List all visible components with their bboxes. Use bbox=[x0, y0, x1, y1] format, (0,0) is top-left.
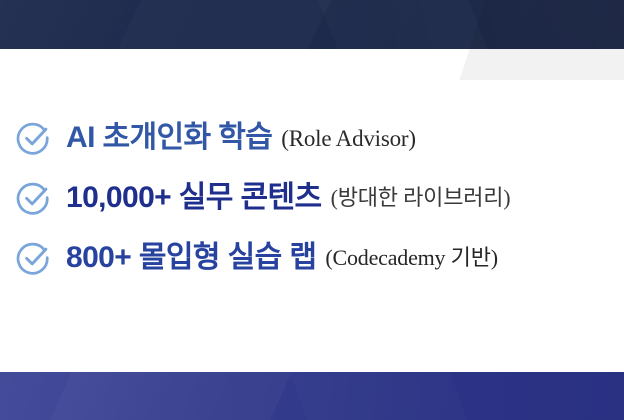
slide-canvas: AI 초개인화 학습 (Role Advisor) 10,000+ 실무 콘텐츠… bbox=[0, 0, 624, 420]
top-decorative-band bbox=[0, 0, 624, 49]
check-circle-icon bbox=[14, 118, 54, 158]
top-band-facet-left bbox=[105, 0, 342, 76]
feature-headline: AI 초개인화 학습 bbox=[66, 123, 272, 153]
check-circle-icon bbox=[14, 178, 54, 218]
feature-headline: 10,000+ 실무 콘텐츠 bbox=[66, 183, 322, 213]
feature-headline: 800+ 몰입형 실습 랩 bbox=[66, 243, 316, 273]
bottom-band-facet-left bbox=[38, 348, 303, 420]
feature-list: AI 초개인화 학습 (Role Advisor) 10,000+ 실무 콘텐츠… bbox=[0, 118, 624, 278]
check-circle-icon bbox=[14, 238, 54, 278]
bottom-decorative-band bbox=[0, 372, 624, 420]
feature-note: (방대한 라이브러리) bbox=[331, 187, 511, 209]
top-band-facet-right bbox=[459, 0, 624, 80]
feature-note: (Role Advisor) bbox=[281, 127, 416, 150]
feature-item-ai-personalization: AI 초개인화 학습 (Role Advisor) bbox=[0, 118, 624, 158]
bottom-band-facet-middle bbox=[283, 354, 476, 420]
feature-note: (Codecademy 기반) bbox=[325, 247, 497, 269]
feature-item-content-library: 10,000+ 실무 콘텐츠 (방대한 라이브러리) bbox=[0, 178, 624, 218]
feature-item-hands-on-labs: 800+ 몰입형 실습 랩 (Codecademy 기반) bbox=[0, 238, 624, 278]
